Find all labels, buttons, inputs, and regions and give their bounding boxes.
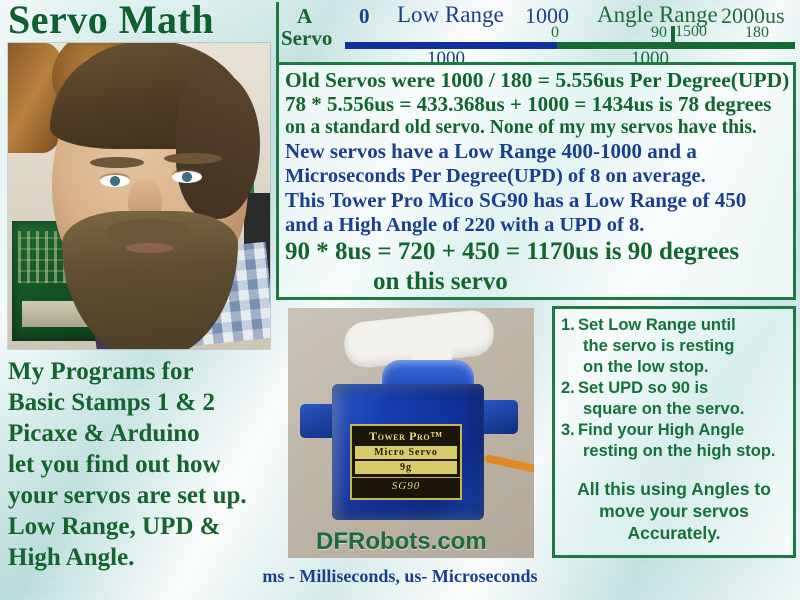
scale-angle-end-degree: 180 [745,24,769,42]
left-para-line-5: your servos are set up. [8,480,278,511]
servo-math-explanation-box: Old Servos were 1000 / 180 = 5.556us Per… [276,62,796,300]
step-1-line-3: on the low stop. [561,357,793,378]
servo-photo-watermark: DFRobots.com [316,528,487,556]
left-para-line-4: let you find out how [8,449,278,480]
servo-brand-name: Tower Pro™ [352,429,460,444]
explanation-line-9: on this servo [285,267,793,297]
scale-midpoint-tick [671,26,675,48]
author-portrait-photo [8,43,270,349]
explanation-line-1: Old Servos were 1000 / 180 = 5.556us Per… [285,68,793,92]
steps-closing-line-2: move your servos [561,500,787,522]
scale-label-servo: Servo [281,26,332,51]
photo-lips [126,243,174,253]
steps-closing-line-1: All this using Angles to [561,478,787,500]
steps-closing-line-3: Accurately. [561,522,787,544]
setup-steps-box: 1.Set Low Range until the servo is resti… [552,306,796,558]
scale-angle-mid-degree: 90 [651,24,667,42]
step-1-line-2: the servo is resting [561,336,793,357]
photo-eye-right [172,171,202,183]
photo-eyebrow-right [164,153,222,164]
scale-angle-mid-us: 1500 [675,23,707,41]
scale-low-range-label: Low Range [397,2,504,28]
left-para-line-6: Low Range, UPD & [8,511,278,542]
scale-low-start-value: 0 [359,4,370,29]
left-para-line-3: Picaxe & Arduino [8,418,278,449]
step-3-number: 3. [561,420,578,441]
step-3-line-2: resting on the high stop. [561,441,793,462]
explanation-line-5: Microseconds Per Degree(UPD) of 8 on ave… [285,164,793,188]
scale-low-end-value: 1000 [525,3,569,29]
step-item-1: 1.Set Low Range until [561,315,793,336]
step-item-3: 3.Find your High Angle [561,420,793,441]
explanation-line-3: on a standard old servo. None of my my s… [285,116,793,139]
page-title: Servo Math [8,0,214,42]
servo-range-scale-diagram: A Servo 0 Low Range 1000 Angle Range 200… [276,2,800,70]
explanation-line-8: 90 * 8us = 720 + 450 = 1170us is 90 degr… [285,237,793,267]
step-1-line-1: Set Low Range until [578,316,736,334]
left-description-paragraph: My Programs for Basic Stamps 1 & 2 Picax… [8,356,278,573]
left-para-line-2: Basic Stamps 1 & 2 [8,387,278,418]
step-1-number: 1. [561,315,578,336]
left-para-line-1: My Programs for [8,356,278,387]
servo-product-photo: Tower Pro™ Micro Servo 9g SG90 DFRobots.… [288,308,534,558]
explanation-line-6: This Tower Pro Mico SG90 has a Low Range… [285,188,793,213]
explanation-line-4: New servos have a Low Range 400-1000 and… [285,139,793,164]
scale-angle-start-degree: 0 [551,24,559,42]
steps-closing-note: All this using Angles to move your servo… [561,478,793,544]
servo-model-name: Micro Servo [355,446,457,459]
photo-eye-left [100,175,130,187]
units-legend-footer: ms - Milliseconds, us- Microseconds [0,566,800,587]
step-3-line-1: Find your High Angle [578,421,744,439]
explanation-line-7: and a High Angle of 220 with a UPD of 8. [285,213,793,237]
step-2-number: 2. [561,378,578,399]
servo-model-code: SG90 [352,477,460,492]
photo-eyebrow-left [90,157,144,168]
scale-angle-range-bar [557,42,795,49]
servo-weight: 9g [355,461,457,474]
step-item-2: 2.Set UPD so 90 is [561,378,793,399]
servo-brand-label: Tower Pro™ Micro Servo 9g SG90 [350,424,462,500]
photo-mustache [106,219,192,245]
step-2-line-2: square on the servo. [561,399,793,420]
explanation-line-2: 78 * 5.556us = 433.368us + 1000 = 1434us… [285,92,793,116]
scale-low-range-bar [345,42,557,49]
step-2-line-1: Set UPD so 90 is [578,379,708,397]
